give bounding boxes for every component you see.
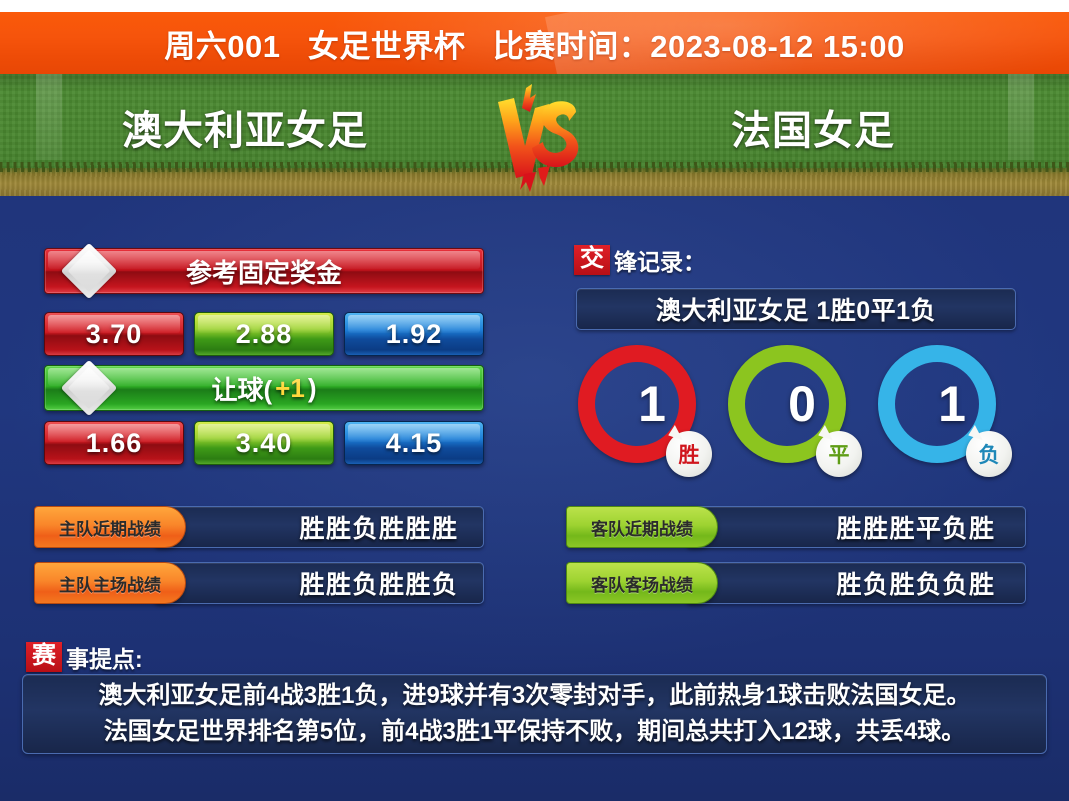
- vs-icon: [480, 82, 590, 194]
- h2h-summary-bar: 澳大利亚女足 1胜0平1负: [576, 288, 1016, 330]
- pitch-marking-left: [36, 74, 62, 160]
- h2h-ring-lose: 1 负: [878, 345, 1004, 471]
- ring-badge-win: 胜: [666, 431, 712, 477]
- diamond-icon: [61, 360, 118, 417]
- home-team-name: 澳大利亚女足: [122, 98, 368, 156]
- h2h-section-tag: 交 锋记录：: [574, 243, 706, 277]
- summary-box: 澳大利亚女足前4战3胜1负，进9球并有3次零封对手，此前热身1球击败法国女足。 …: [22, 674, 1047, 754]
- form-value: 胜负胜负负胜: [686, 562, 1026, 604]
- header-title: 周六001 女足世界杯 比赛时间：2023-08-12 15:00: [0, 12, 1069, 74]
- odds-away-win[interactable]: 1.92: [344, 312, 484, 356]
- form-label: 主队主场战绩: [34, 562, 186, 604]
- form-row-home-recent: 胜胜负胜胜胜 主队近期战绩: [34, 506, 484, 548]
- h2h-ring-win: 1 胜: [578, 345, 704, 471]
- summary-tag-label: 事提点:: [66, 640, 143, 674]
- h2h-ring-draw: 0 平: [728, 345, 854, 471]
- form-label: 主队近期战绩: [34, 506, 186, 548]
- form-value: 胜胜负胜胜胜: [154, 506, 484, 548]
- diamond-icon: [61, 243, 118, 300]
- handicap-label-suffix: ): [308, 373, 317, 404]
- header-bar: 周六001 女足世界杯 比赛时间：2023-08-12 15:00: [0, 12, 1069, 74]
- handicap-value: +1: [275, 373, 305, 404]
- odds-home-win[interactable]: 3.70: [44, 312, 184, 356]
- form-label: 客队客场战绩: [566, 562, 718, 604]
- form-value: 胜胜胜平负胜: [686, 506, 1026, 548]
- match-preview-graphic: 周六001 女足世界杯 比赛时间：2023-08-12 15:00 澳大利亚女足…: [0, 0, 1069, 801]
- summary-line: 澳大利亚女足前4战3胜1负，进9球并有3次零封对手，此前热身1球击败法国女足。: [98, 678, 970, 714]
- handicap-odds-away-win[interactable]: 4.15: [344, 421, 484, 465]
- handicap-label-prefix: 让球(: [212, 370, 273, 407]
- handicap-odds-home-win[interactable]: 1.66: [44, 421, 184, 465]
- summary-section-tag: 赛 事提点:: [26, 640, 143, 674]
- summary-tag-chip: 赛: [26, 642, 62, 672]
- form-label: 客队近期战绩: [566, 506, 718, 548]
- away-team-name: 法国女足: [731, 98, 895, 156]
- h2h-tag-label: 锋记录：: [614, 243, 706, 277]
- form-row-away-recent: 胜胜胜平负胜 客队近期战绩: [566, 506, 1026, 548]
- summary-line: 法国女足世界排名第5位，前4战3胜1平保持不败，期间总共打入12球，共丢4球。: [104, 714, 965, 750]
- ring-badge-lose: 负: [966, 431, 1012, 477]
- fixed-prize-title: 参考固定奖金: [186, 253, 342, 290]
- fixed-prize-header: 参考固定奖金: [44, 248, 484, 294]
- form-value: 胜胜负胜胜负: [154, 562, 484, 604]
- ring-badge-draw: 平: [816, 431, 862, 477]
- handicap-header: 让球( +1 ): [44, 365, 484, 411]
- h2h-tag-chip: 交: [574, 245, 610, 275]
- form-row-home-at-home: 胜胜负胜胜负 主队主场战绩: [34, 562, 484, 604]
- form-row-away-at-away: 胜负胜负负胜 客队客场战绩: [566, 562, 1026, 604]
- odds-draw[interactable]: 2.88: [194, 312, 334, 356]
- handicap-odds-draw[interactable]: 3.40: [194, 421, 334, 465]
- pitch-marking-right: [1008, 74, 1034, 160]
